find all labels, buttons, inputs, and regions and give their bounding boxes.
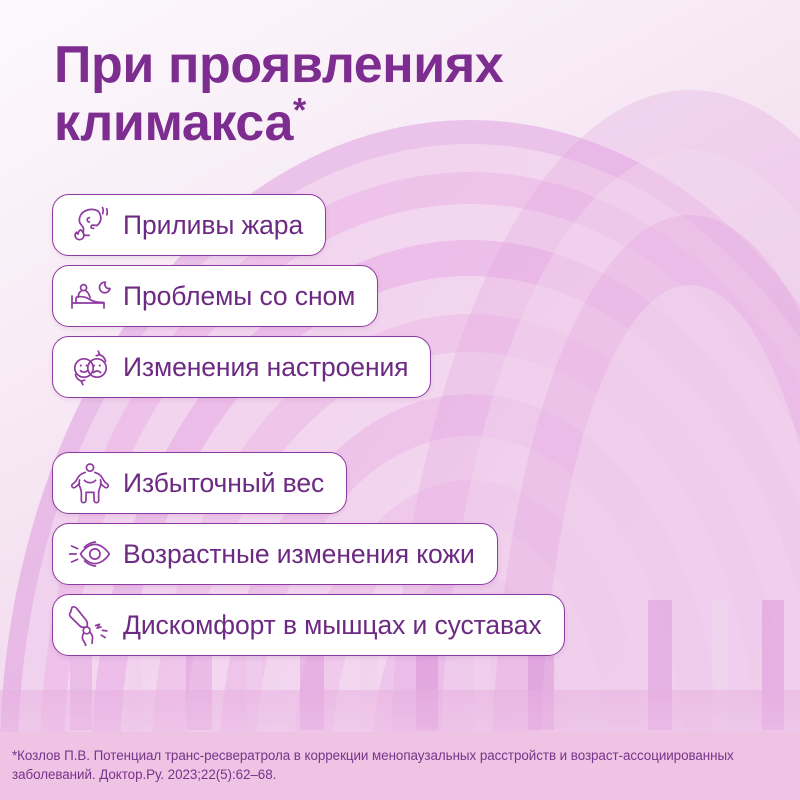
title-asterisk: *	[293, 92, 306, 130]
poster-canvas: При проявленияхклимакса* Приливы жара	[0, 0, 800, 800]
overweight-body-icon	[67, 462, 113, 504]
title-line-1: При проявлениях	[54, 36, 503, 94]
title-block: При проявленияхклимакса*	[54, 36, 614, 152]
symptom-label: Проблемы со сном	[123, 281, 355, 312]
symptom-label: Возрастные изменения кожи	[123, 539, 475, 570]
symptom-pill-hot-flashes[interactable]: Приливы жара	[52, 194, 326, 256]
symptom-label: Изменения настроения	[123, 352, 408, 383]
symptom-group-b: Избыточный вес Возрастные изменения кожи	[52, 452, 565, 656]
symptom-pill-sleep-problems[interactable]: Проблемы со сном	[52, 265, 378, 327]
title-line-2: климакса	[54, 94, 293, 152]
knee-joint-pain-icon	[67, 604, 113, 646]
bed-moon-insomnia-icon	[67, 275, 113, 317]
symptom-pill-overweight[interactable]: Избыточный вес	[52, 452, 347, 514]
head-hot-flash-icon	[67, 204, 113, 246]
symptom-label: Приливы жара	[123, 210, 303, 241]
footer-band: *Козлов П.В. Потенциал транс-ресвератрол…	[0, 732, 800, 800]
footnote-text: *Козлов П.В. Потенциал транс-ресвератрол…	[12, 746, 784, 784]
symptom-label: Дискомфорт в мышцах и суставах	[123, 610, 542, 641]
symptom-pill-mood-changes[interactable]: Изменения настроения	[52, 336, 431, 398]
mood-swing-faces-icon	[67, 346, 113, 388]
eye-wrinkles-icon	[67, 533, 113, 575]
symptom-pill-skin-aging[interactable]: Возрастные изменения кожи	[52, 523, 498, 585]
symptom-label: Избыточный вес	[123, 468, 324, 499]
symptom-group-a: Приливы жара Проблемы со сном	[52, 194, 431, 398]
page-title: При проявленияхклимакса*	[54, 36, 614, 152]
symptom-pill-joint-discomfort[interactable]: Дискомфорт в мышцах и суставах	[52, 594, 565, 656]
